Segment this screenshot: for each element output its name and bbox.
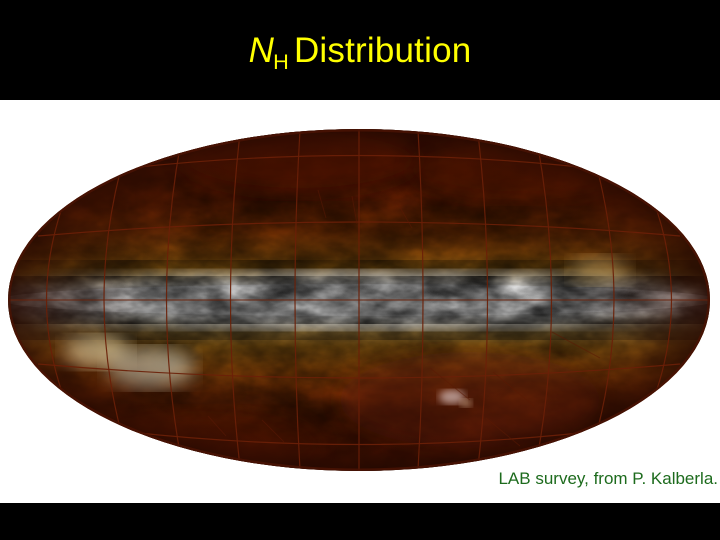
title-subscript: H: [273, 49, 289, 74]
slide: NHDistribution LAB survey, from P. Kalbe…: [0, 0, 720, 540]
page-title: NHDistribution: [0, 30, 720, 76]
all-sky-map-svg: [0, 100, 720, 503]
figure-caption: LAB survey, from P. Kalberla.: [498, 469, 718, 489]
title-rest: Distribution: [294, 31, 471, 70]
all-sky-map-figure: [0, 100, 720, 503]
footer-bar: [0, 503, 720, 540]
title-symbol: N: [249, 31, 274, 70]
